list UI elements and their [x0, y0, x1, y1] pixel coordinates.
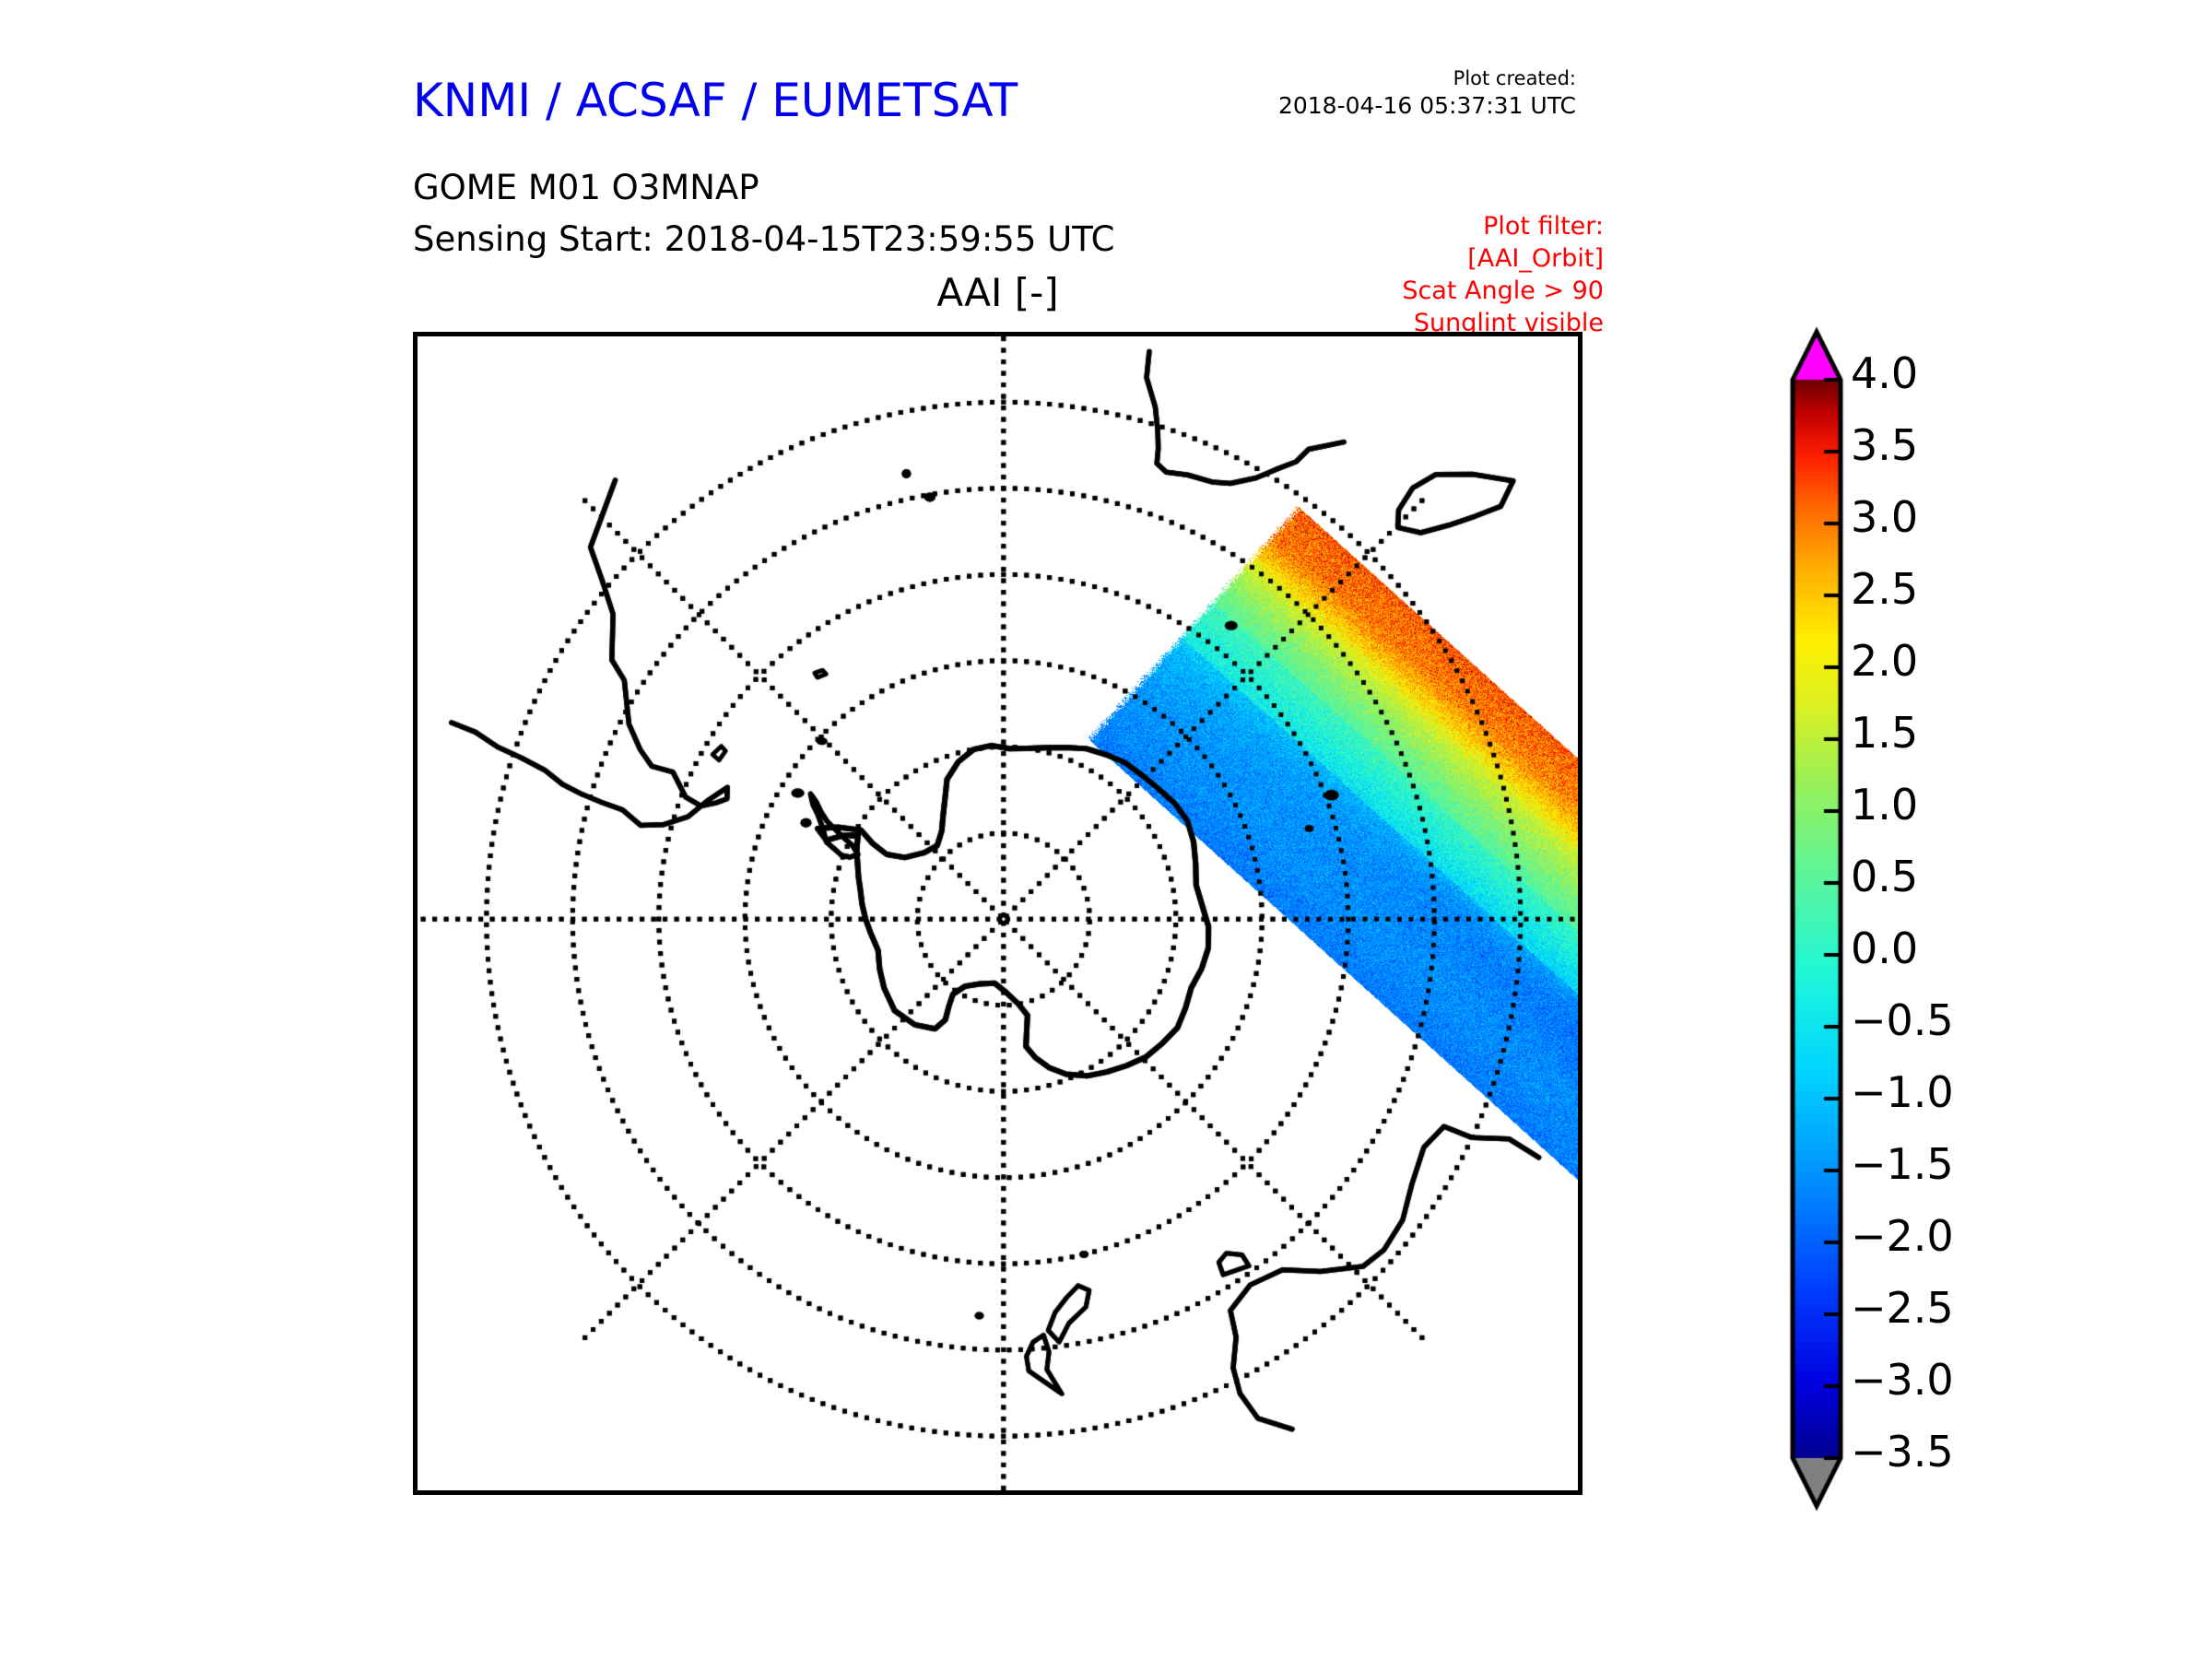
- colorbar-tick-label: 4.0: [1851, 352, 1918, 394]
- colorbar-tick-label: 1.5: [1851, 712, 1918, 754]
- map-canvas: [418, 336, 1578, 1490]
- colorbar-tick-label: 3.5: [1851, 424, 1918, 466]
- colorbar-tick-label: −2.5: [1851, 1287, 1954, 1329]
- colorbar-tick-label: 2.0: [1851, 640, 1918, 682]
- colorbar-gradient: [1786, 324, 1851, 1513]
- colorbar-tick-label: −0.5: [1851, 999, 1954, 1041]
- plot-created-label: Plot created:: [1078, 66, 1576, 91]
- map-plot-area: [413, 332, 1583, 1495]
- colorbar-tick-label: −1.5: [1851, 1143, 1954, 1185]
- colorbar: 4.03.53.02.52.01.51.00.50.0−0.5−1.0−1.5−…: [1786, 324, 2173, 1513]
- chart-title: AAI [-]: [413, 270, 1583, 315]
- colorbar-tick-label: 0.5: [1851, 855, 1918, 898]
- colorbar-tick-label: −3.5: [1851, 1430, 1954, 1473]
- colorbar-tick-label: 3.0: [1851, 496, 1918, 538]
- plot-filter-label: Plot filter:: [1198, 210, 1604, 242]
- colorbar-tick-label: −1.0: [1851, 1071, 1954, 1113]
- organisation-title: KNMI / ACSAF / EUMETSAT: [413, 74, 1018, 127]
- colorbar-tick-labels: 4.03.53.02.52.01.51.00.50.0−0.5−1.0−1.5−…: [1851, 324, 2155, 1513]
- colorbar-tick-label: 0.0: [1851, 927, 1918, 970]
- sensing-start: Sensing Start: 2018-04-15T23:59:55 UTC: [413, 219, 1114, 259]
- colorbar-tick-label: 1.0: [1851, 783, 1918, 826]
- plot-created-timestamp: 2018-04-16 05:37:31 UTC: [1078, 91, 1576, 122]
- product-name: GOME M01 O3MNAP: [413, 168, 759, 207]
- colorbar-tick-label: −2.0: [1851, 1215, 1954, 1257]
- plot-created-block: Plot created: 2018-04-16 05:37:31 UTC: [1078, 66, 1576, 122]
- colorbar-tick-label: 2.5: [1851, 568, 1918, 610]
- colorbar-tick-label: −3.0: [1851, 1359, 1954, 1401]
